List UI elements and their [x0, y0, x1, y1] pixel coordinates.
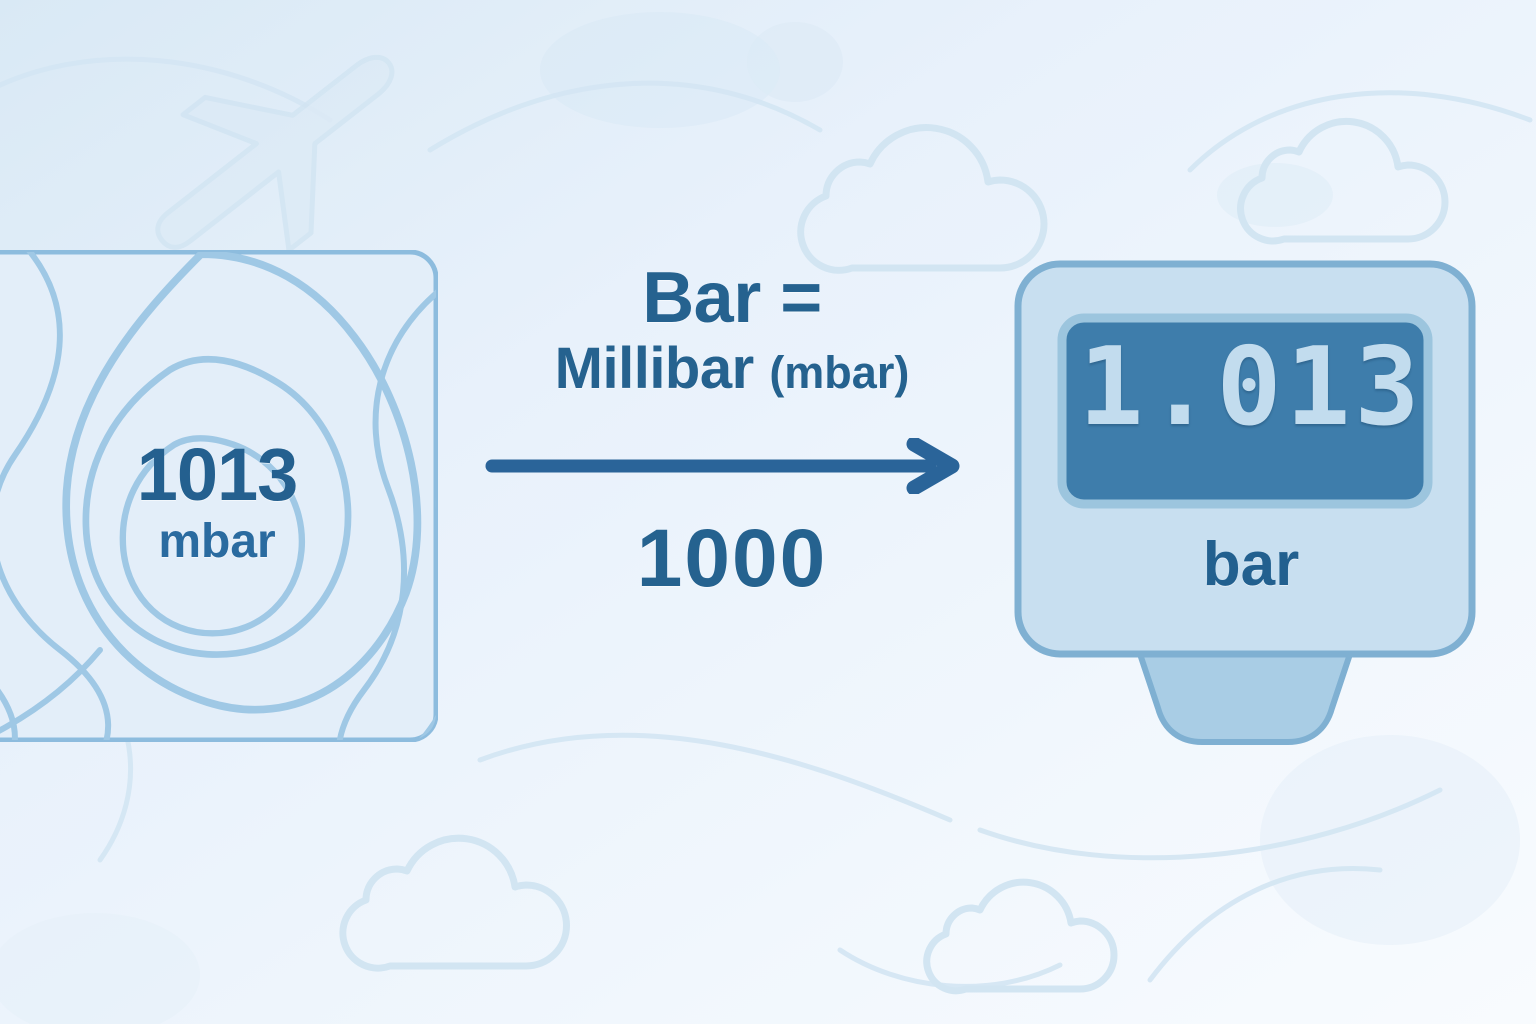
pressure-map-card: 1013 mbar [0, 250, 438, 742]
lcd-pressure-value: 1.013 [1056, 334, 1446, 442]
formula-line-bar: Bar = [462, 262, 1002, 335]
conversion-formula: Bar = Millibar (mbar) 1000 [462, 262, 1002, 606]
map-pressure-readout: 1013 mbar [0, 438, 438, 566]
conversion-arrow [462, 438, 1002, 494]
cloud-bottom-center [927, 882, 1114, 991]
infographic-canvas: 1013 mbar Bar = Millibar (mbar) 1000 1.0… [0, 0, 1536, 1024]
formula-line-millibar: Millibar (mbar) [462, 335, 1002, 403]
formula-millibar-word: Millibar [555, 336, 754, 401]
cloud-bottom-left [343, 838, 567, 968]
cloud-top-right [801, 128, 1044, 271]
map-pressure-unit: mbar [0, 518, 438, 566]
digital-barometer: 1.013 bar [1010, 256, 1480, 756]
formula-divisor: 1000 [462, 512, 1002, 606]
device-stand [1138, 648, 1352, 742]
cloud-far-right [1241, 121, 1445, 241]
formula-millibar-abbrev: (mbar) [769, 347, 909, 398]
device-unit-label: bar [1056, 534, 1446, 596]
map-pressure-value: 1013 [0, 438, 438, 512]
